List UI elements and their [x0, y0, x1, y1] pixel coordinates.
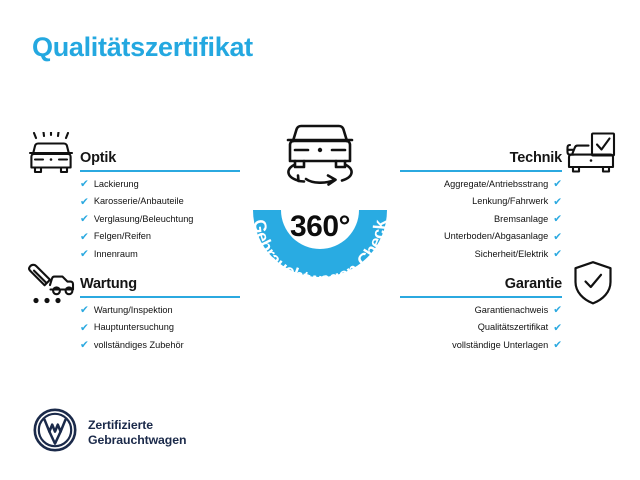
- list-item: Garantienachweis ✔: [400, 305, 562, 316]
- footer-brand: Zertifizierte Gebrauchtwagen: [33, 408, 186, 457]
- badge-center-value: 360°: [225, 210, 415, 244]
- car-front-rotate-icon: [272, 117, 368, 193]
- section-wartung-title: Wartung: [80, 276, 137, 292]
- list-item: ✔ Innenraum: [80, 249, 240, 260]
- check-icon: ✔: [553, 340, 562, 351]
- list-item: ✔ Lackierung: [80, 179, 240, 190]
- section-wartung-items: ✔ Wartung/Inspektion ✔ Hauptuntersuchung…: [80, 305, 240, 351]
- section-garantie-rule: [400, 296, 562, 298]
- list-item: Bremsanlage ✔: [400, 214, 562, 225]
- list-item-label: Innenraum: [94, 250, 138, 259]
- check-icon: ✔: [553, 323, 562, 334]
- section-technik: Technik Aggregate/Antriebsstrang ✔ Lenku…: [400, 142, 562, 267]
- section-garantie-items: Garantienachweis ✔ Qualitätszertifikat ✔…: [400, 305, 562, 351]
- footer-line-1: Zertifizierte: [88, 418, 153, 432]
- list-item-label: Qualitätszertifikat: [478, 323, 548, 332]
- section-wartung-rule: [80, 296, 240, 298]
- section-optik-header: Optik: [80, 142, 240, 172]
- section-technik-items: Aggregate/Antriebsstrang ✔ Lenkung/Fahrw…: [400, 179, 562, 260]
- section-technik-title: Technik: [510, 150, 562, 166]
- list-item-label: Wartung/Inspektion: [94, 306, 173, 315]
- list-item: Sicherheit/Elektrik ✔: [400, 249, 562, 260]
- list-item-label: Hauptuntersuchung: [94, 323, 174, 332]
- list-item-label: Lackierung: [94, 180, 139, 189]
- check-icon: ✔: [553, 214, 562, 225]
- list-item-label: Unterboden/Abgasanlage: [444, 232, 548, 241]
- section-garantie: Garantie Garantienachweis ✔ Qualitätszer…: [400, 268, 562, 358]
- certificate-page: Qualitätszertifikat Optik ✔ Lackierung ✔…: [0, 0, 640, 480]
- check-icon: ✔: [553, 249, 562, 260]
- list-item: Qualitätszertifikat ✔: [400, 323, 562, 334]
- list-item: Unterboden/Abgasanlage ✔: [400, 232, 562, 243]
- check-icon: ✔: [80, 197, 89, 208]
- check-icon: ✔: [553, 232, 562, 243]
- badge-360-gebrauchtwagen-check: Gebrauchtwagen-Check 360°: [225, 124, 415, 314]
- list-item: ✔ Hauptuntersuchung: [80, 323, 240, 334]
- volkswagen-logo: [33, 408, 77, 457]
- list-item-label: Bremsanlage: [494, 215, 548, 224]
- check-icon: ✔: [80, 214, 89, 225]
- list-item: ✔ vollständiges Zubehör: [80, 340, 240, 351]
- list-item-label: vollständige Unterlagen: [452, 341, 548, 350]
- check-icon: ✔: [553, 305, 562, 316]
- check-icon: ✔: [80, 249, 89, 260]
- wrench-car-service-icon: [26, 262, 76, 311]
- section-optik-rule: [80, 170, 240, 172]
- list-item: ✔ Felgen/Reifen: [80, 232, 240, 243]
- list-item: ✔ Verglasung/Beleuchtung: [80, 214, 240, 225]
- check-icon: ✔: [80, 305, 89, 316]
- section-optik: Optik ✔ Lackierung ✔ Karosserie/Anbautei…: [80, 142, 240, 267]
- car-front-shine-icon: [26, 132, 76, 183]
- check-icon: ✔: [80, 340, 89, 351]
- list-item-label: Felgen/Reifen: [94, 232, 151, 241]
- check-icon: ✔: [80, 323, 89, 334]
- list-item-label: Lenkung/Fahrwerk: [472, 197, 548, 206]
- list-item: Aggregate/Antriebsstrang ✔: [400, 179, 562, 190]
- section-technik-header: Technik: [400, 142, 562, 172]
- list-item: ✔ Wartung/Inspektion: [80, 305, 240, 316]
- section-technik-rule: [400, 170, 562, 172]
- list-item: vollständige Unterlagen ✔: [400, 340, 562, 351]
- list-item-label: Karosserie/Anbauteile: [94, 197, 184, 206]
- footer-line-2: Gebrauchtwagen: [88, 433, 186, 447]
- section-wartung: Wartung ✔ Wartung/Inspektion ✔ Hauptunte…: [80, 268, 240, 358]
- section-optik-title: Optik: [80, 150, 116, 166]
- list-item-label: Garantienachweis: [475, 306, 549, 315]
- section-optik-items: ✔ Lackierung ✔ Karosserie/Anbauteile ✔ V…: [80, 179, 240, 260]
- check-icon: ✔: [80, 232, 89, 243]
- list-item: Lenkung/Fahrwerk ✔: [400, 197, 562, 208]
- check-icon: ✔: [80, 179, 89, 190]
- list-item-label: Aggregate/Antriebsstrang: [444, 180, 548, 189]
- section-garantie-title: Garantie: [505, 276, 562, 292]
- check-icon: ✔: [553, 197, 562, 208]
- list-item-label: Sicherheit/Elektrik: [475, 250, 549, 259]
- page-title: Qualitätszertifikat: [32, 34, 253, 61]
- shield-check-icon: [572, 260, 614, 311]
- list-item-label: Verglasung/Beleuchtung: [94, 215, 194, 224]
- footer-brand-text: Zertifizierte Gebrauchtwagen: [88, 418, 186, 448]
- list-item: ✔ Karosserie/Anbauteile: [80, 197, 240, 208]
- check-icon: ✔: [553, 179, 562, 190]
- list-item-label: vollständiges Zubehör: [94, 341, 184, 350]
- car-checkbox-icon: [566, 132, 616, 183]
- section-wartung-header: Wartung: [80, 268, 240, 298]
- section-garantie-header: Garantie: [400, 268, 562, 298]
